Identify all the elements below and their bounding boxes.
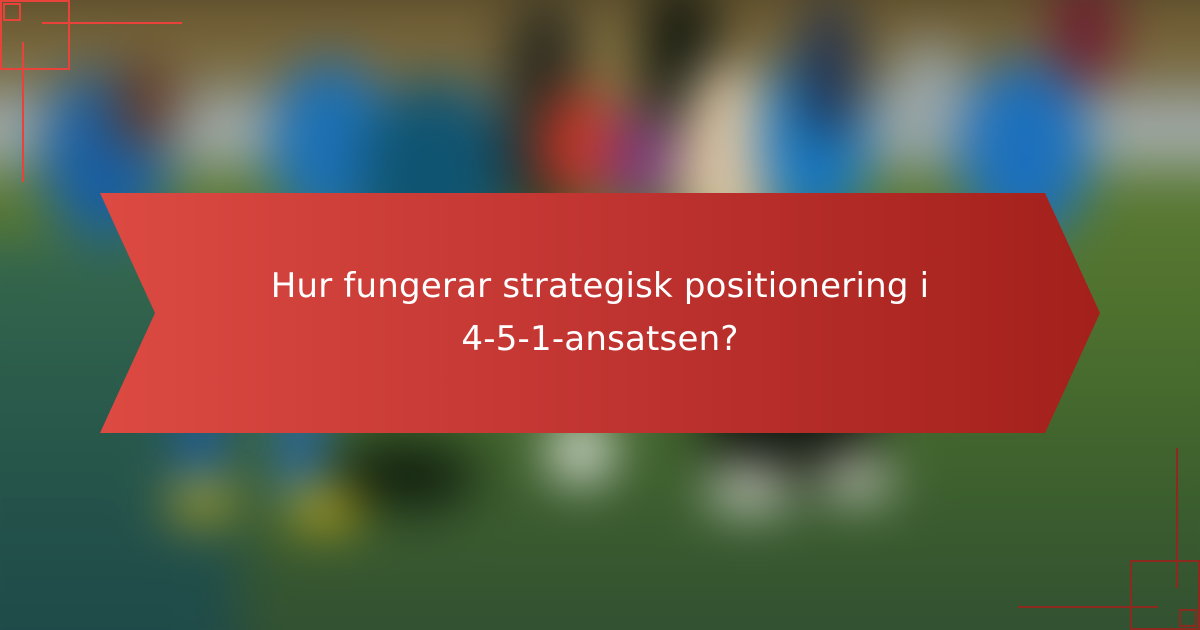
headline-ribbon-banner: Hur fungerar strategisk positionering i4… [100,193,1100,433]
shadow-figure [330,440,480,510]
corner-accent-hline [1018,606,1158,608]
corner-accent-vline [22,42,24,182]
corner-frame-bottom-right [1000,430,1200,630]
player-boot [820,460,890,496]
corner-square [3,3,21,21]
headline-text: Hur fungerar strategisk positionering i4… [231,260,970,365]
corner-accent-hline [42,22,182,24]
corner-frame-top-left [0,0,200,200]
player-boot [710,470,790,506]
player-boot [172,485,232,517]
crowd-figure [890,40,970,170]
crowd-figure [800,0,860,140]
corner-accent-vline [1176,448,1178,588]
corner-square [1179,609,1197,627]
social-share-card: Hur fungerar strategisk positionering i4… [0,0,1200,630]
headline-line-1: Hur fungerar strategisk positionering i [271,260,930,313]
headline-line-2: 4-5-1-ansatsen? [271,313,930,366]
